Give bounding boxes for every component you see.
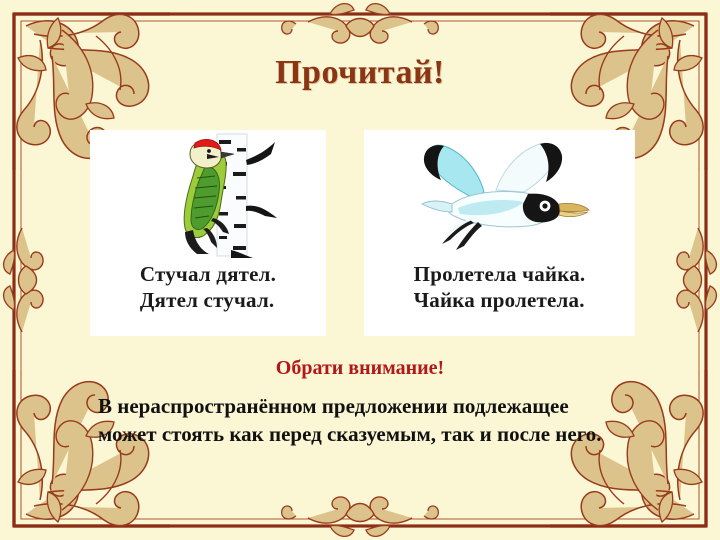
card-sentences-woodpecker: Стучал дятел. Дятел стучал.	[140, 262, 276, 313]
note-body: В нераспространённом предложении подлежа…	[98, 393, 618, 449]
slide-root: Прочитай!	[0, 0, 720, 540]
sentence-line: Дятел стучал.	[140, 288, 276, 314]
sentence-line: Чайка пролетела.	[414, 288, 586, 314]
edge-ornament-right	[677, 228, 716, 332]
sentence-card-woodpecker: Стучал дятел. Дятел стучал.	[90, 130, 326, 336]
sentence-cards: Стучал дятел. Дятел стучал.	[90, 130, 635, 336]
sentence-line: Стучал дятел.	[140, 262, 276, 288]
flying-seagull-illustration	[400, 132, 600, 260]
page-title: Прочитай!	[0, 54, 720, 92]
edge-ornament-left	[4, 228, 43, 332]
edge-ornament-bottom	[282, 497, 439, 536]
note-heading: Обрати внимание!	[0, 357, 720, 380]
edge-ornament-top	[282, 4, 439, 43]
woodpecker-on-birch-illustration	[133, 132, 283, 260]
sentence-line: Пролетела чайка.	[414, 262, 586, 288]
card-sentences-seagull: Пролетела чайка. Чайка пролетела.	[414, 262, 586, 313]
sentence-card-seagull: Пролетела чайка. Чайка пролетела.	[364, 130, 635, 336]
